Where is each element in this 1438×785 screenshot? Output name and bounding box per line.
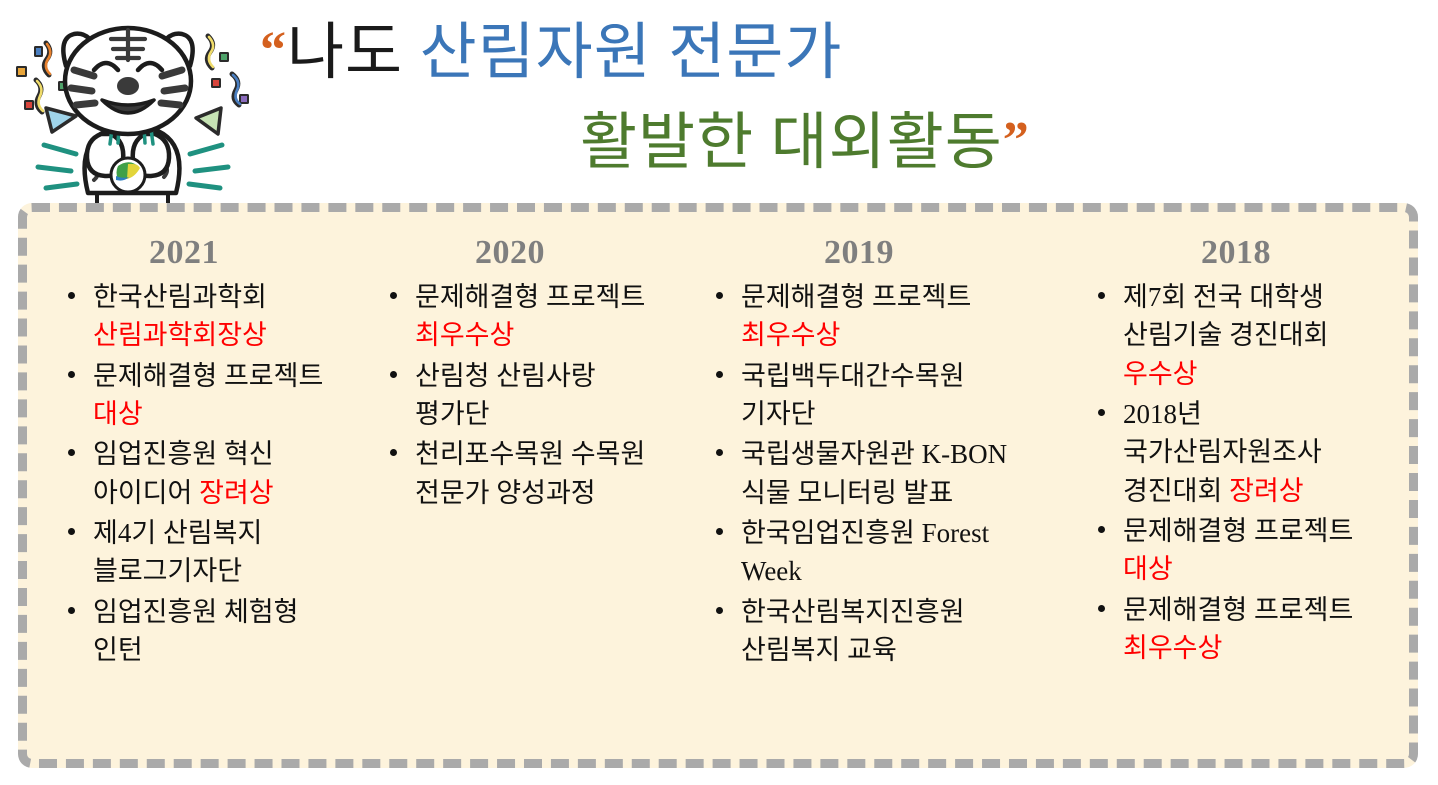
award-highlight: 최우수상: [741, 320, 840, 350]
year-columns-container: 2021 한국산림과학회 산림과학회장상문제해결형 프로젝트 대상임업진흥원 혁…: [27, 212, 1409, 759]
title-prefix: 나도: [287, 19, 420, 87]
achievements-panel: 2021 한국산림과학회 산림과학회장상문제해결형 프로젝트 대상임업진흥원 혁…: [18, 203, 1418, 768]
achievement-list-2021: 한국산림과학회 산림과학회장상문제해결형 프로젝트 대상임업진흥원 혁신 아이디…: [27, 278, 349, 669]
year-heading-2019: 2019: [671, 234, 1047, 272]
achievement-item: 한국산림복지진흥원 산림복지 교육: [697, 593, 1043, 670]
award-highlight: 최우수상: [1123, 633, 1222, 663]
award-highlight: 우수상: [1123, 359, 1198, 389]
close-quote-mark: ”: [1003, 112, 1030, 169]
bullet-dot-icon: [1098, 605, 1105, 612]
bullet-dot-icon: [68, 528, 75, 535]
bullet-dot-icon: [68, 371, 75, 378]
bullet-dot-icon: [716, 292, 723, 299]
award-highlight: 대상: [1123, 554, 1173, 584]
medal-icon: [111, 158, 145, 192]
award-highlight: 장려상: [1229, 476, 1304, 506]
bullet-dot-icon: [1098, 409, 1105, 416]
year-column-2018: 2018 제7회 전국 대학생 산림기술 경진대회 우수상2018년 국가산림자…: [1047, 212, 1409, 759]
bullet-dot-icon: [1098, 526, 1105, 533]
achievement-text: 문제해결형 프로젝트: [93, 361, 323, 391]
achievement-text: 문제해결형 프로젝트: [1123, 516, 1353, 546]
bullet-dot-icon: [390, 371, 397, 378]
achievement-list-2020: 문제해결형 프로젝트 최우수상산림청 산림사랑 평가단천리포수목원 수목원 전문…: [349, 278, 671, 512]
award-highlight: 산림과학회장상: [93, 320, 267, 350]
bullet-dot-icon: [716, 371, 723, 378]
title-activity: 활발한 대외활동: [580, 109, 1003, 177]
bullet-dot-icon: [68, 449, 75, 456]
year-heading-2018: 2018: [1047, 234, 1409, 272]
achievement-item: 임업진흥원 체험형 인턴: [49, 593, 343, 670]
achievement-text: 한국임업진흥원 Forest Week: [741, 518, 989, 586]
achievement-item: 문제해결형 프로젝트 대상: [49, 357, 343, 434]
achievement-item: 문제해결형 프로젝트 최우수상: [1079, 591, 1403, 668]
bullet-dot-icon: [1098, 292, 1105, 299]
achievement-item: 2018년 국가산림자원조사 경진대회 장려상: [1079, 395, 1403, 510]
award-highlight: 최우수상: [415, 320, 514, 350]
achievement-text: 문제해결형 프로젝트: [741, 282, 971, 312]
achievement-text: 국립생물자원관 K-BON 식물 모니터링 발표: [741, 439, 1007, 507]
achievement-item: 문제해결형 프로젝트 최우수상: [697, 278, 1043, 355]
achievement-item: 천리포수목원 수목원 전문가 양성과정: [371, 435, 665, 512]
header-banner: “나도 산림자원 전문가 활발한 대외활동”: [0, 0, 1438, 200]
title-line-1: “나도 산림자원 전문가: [260, 22, 842, 84]
white-tiger-mascot-icon: [8, 8, 258, 203]
bullet-dot-icon: [390, 449, 397, 456]
open-quote-mark: “: [260, 22, 287, 79]
achievement-text: 제7회 전국 대학생 산림기술 경진대회: [1123, 282, 1328, 350]
achievement-item: 문제해결형 프로젝트 최우수상: [371, 278, 665, 355]
bullet-dot-icon: [716, 449, 723, 456]
award-highlight: 장려상: [199, 478, 274, 508]
achievement-item: 임업진흥원 혁신 아이디어 장려상: [49, 435, 343, 512]
bullet-dot-icon: [68, 292, 75, 299]
achievement-item: 국립생물자원관 K-BON 식물 모니터링 발표: [697, 435, 1043, 512]
achievement-item: 제7회 전국 대학생 산림기술 경진대회 우수상: [1079, 278, 1403, 393]
achievement-text: 산림청 산림사랑 평가단: [415, 361, 596, 429]
achievement-text: 문제해결형 프로젝트: [415, 282, 645, 312]
year-heading-2020: 2020: [349, 234, 671, 272]
title-subject: 산림자원 전문가: [420, 19, 843, 87]
achievement-item: 산림청 산림사랑 평가단: [371, 357, 665, 434]
achievement-text: 국립백두대간수목원 기자단: [741, 361, 965, 429]
achievement-text: 문제해결형 프로젝트: [1123, 595, 1353, 625]
bullet-dot-icon: [716, 607, 723, 614]
title-line-2: 활발한 대외활동”: [580, 112, 1030, 174]
year-column-2021: 2021 한국산림과학회 산림과학회장상문제해결형 프로젝트 대상임업진흥원 혁…: [27, 212, 349, 759]
achievement-list-2018: 제7회 전국 대학생 산림기술 경진대회 우수상2018년 국가산림자원조사 경…: [1047, 278, 1409, 667]
achievement-item: 제4기 산림복지 블로그기자단: [49, 514, 343, 591]
achievement-item: 국립백두대간수목원 기자단: [697, 357, 1043, 434]
bullet-dot-icon: [716, 528, 723, 535]
achievement-item: 한국임업진흥원 Forest Week: [697, 514, 1043, 591]
bullet-dot-icon: [68, 607, 75, 614]
year-column-2019: 2019 문제해결형 프로젝트 최우수상국립백두대간수목원 기자단국립생물자원관…: [671, 212, 1047, 759]
confetti-right: [196, 36, 249, 134]
achievement-text: 천리포수목원 수목원 전문가 양성과정: [415, 439, 645, 507]
title-block: “나도 산림자원 전문가 활발한 대외활동”: [250, 4, 1430, 194]
achievement-text: 임업진흥원 체험형 인턴: [93, 597, 298, 665]
achievement-item: 한국산림과학회 산림과학회장상: [49, 278, 343, 355]
achievement-text: 한국산림복지진흥원 산림복지 교육: [741, 597, 965, 665]
award-highlight: 대상: [93, 399, 143, 429]
year-heading-2021: 2021: [27, 234, 349, 272]
year-column-2020: 2020 문제해결형 프로젝트 최우수상산림청 산림사랑 평가단천리포수목원 수…: [349, 212, 671, 759]
achievement-text: 제4기 산림복지 블로그기자단: [93, 518, 262, 586]
achievement-item: 문제해결형 프로젝트 대상: [1079, 512, 1403, 589]
bullet-dot-icon: [390, 292, 397, 299]
achievement-text: 한국산림과학회: [93, 282, 267, 312]
achievement-list-2019: 문제해결형 프로젝트 최우수상국립백두대간수목원 기자단국립생물자원관 K-BO…: [671, 278, 1047, 669]
